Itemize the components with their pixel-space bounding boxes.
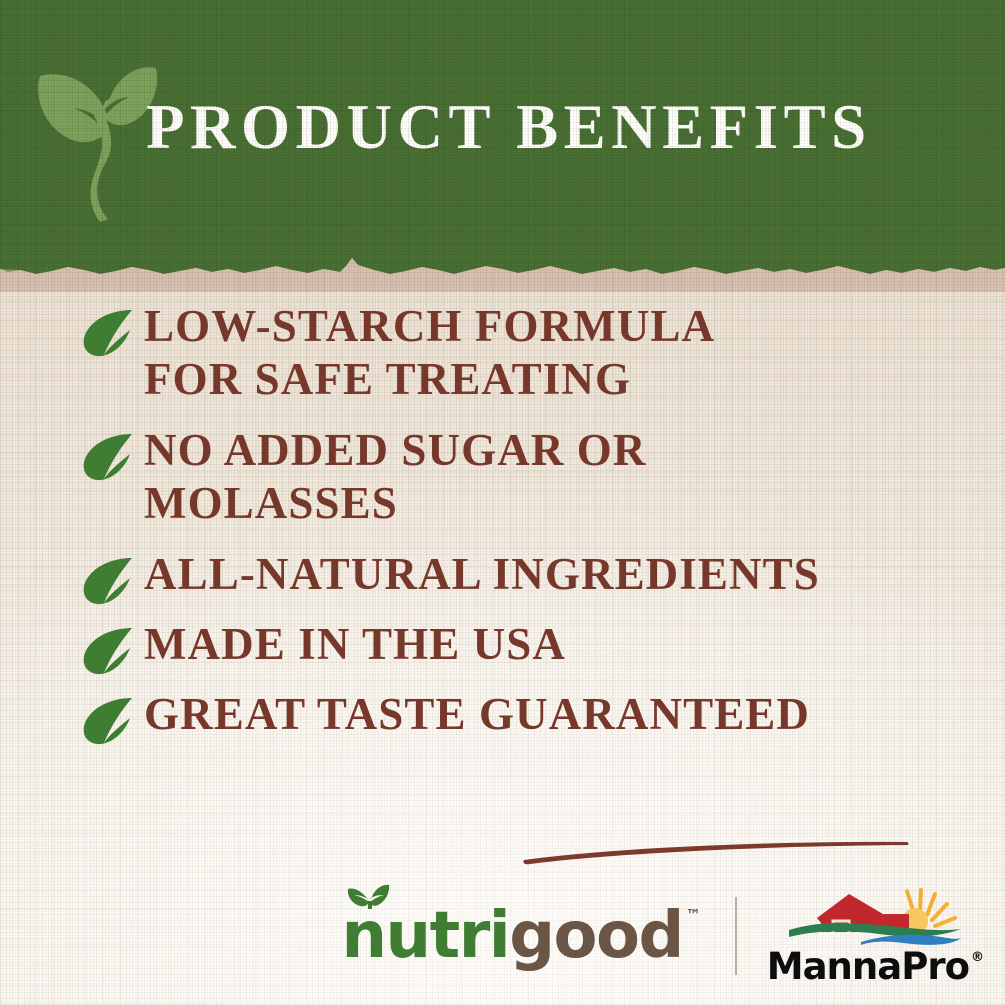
- sprout-icon: [26, 36, 166, 226]
- barn-sun-hill-logo-icon: [787, 888, 963, 950]
- leaf-icon-shape: [82, 308, 138, 358]
- leaf-icon-shape: [82, 626, 138, 676]
- barn-sun-hill-logo-shape: [787, 888, 963, 950]
- list-item: LOW-STARCH FORMULA FOR SAFE TREATING: [82, 300, 962, 406]
- leaf-icon-shape: [82, 556, 138, 606]
- product-benefits-poster: PRODUCT BENEFITS LOW-STARCH FORMULA FOR …: [0, 0, 1005, 1005]
- mannapro-wordmark: MannaPro ®: [767, 948, 983, 985]
- mannapro-logo: MannaPro ®: [767, 888, 983, 985]
- list-item: NO ADDED SUGAR OR MOLASSES: [82, 424, 962, 530]
- benefits-list: LOW-STARCH FORMULA FOR SAFE TREATING NO …: [82, 300, 962, 758]
- list-item-label: GREAT TASTE GUARANTEED: [144, 688, 810, 741]
- list-item: GREAT TASTE GUARANTEED: [82, 688, 962, 746]
- list-item-label: ALL-NATURAL INGREDIENTS: [144, 548, 820, 601]
- sprout-icon-shape: [26, 36, 166, 226]
- list-item-label: NO ADDED SUGAR OR MOLASSES: [144, 424, 647, 530]
- list-item: ALL-NATURAL INGREDIENTS: [82, 548, 962, 606]
- footer-logos: nutrigood™: [0, 881, 1005, 991]
- leaf-icon: [82, 626, 138, 676]
- nutrigood-logo: nutrigood™: [341, 904, 700, 968]
- nutrigood-nutri: nutri: [341, 904, 509, 968]
- leaf-icon: [82, 432, 138, 482]
- header-band: PRODUCT BENEFITS: [0, 0, 1005, 292]
- list-item-label: LOW-STARCH FORMULA FOR SAFE TREATING: [144, 300, 715, 406]
- page-title: PRODUCT BENEFITS: [146, 96, 966, 159]
- mannapro-text: MannaPro: [767, 948, 969, 985]
- list-item: MADE IN THE USA: [82, 618, 962, 676]
- registered-symbol: ®: [971, 951, 983, 964]
- leaf-icon: [82, 556, 138, 606]
- underline-swash: [520, 832, 910, 866]
- trademark-symbol: ™: [686, 908, 701, 923]
- logo-divider: [735, 897, 737, 975]
- list-item-label: MADE IN THE USA: [144, 618, 566, 671]
- leaf-icon: [82, 308, 138, 358]
- leaf-icon-shape: [82, 432, 138, 482]
- nutrigood-good: good: [509, 904, 683, 968]
- leaf-icon: [82, 696, 138, 746]
- leaf-icon-shape: [82, 696, 138, 746]
- underline-swash-shape: [520, 832, 910, 866]
